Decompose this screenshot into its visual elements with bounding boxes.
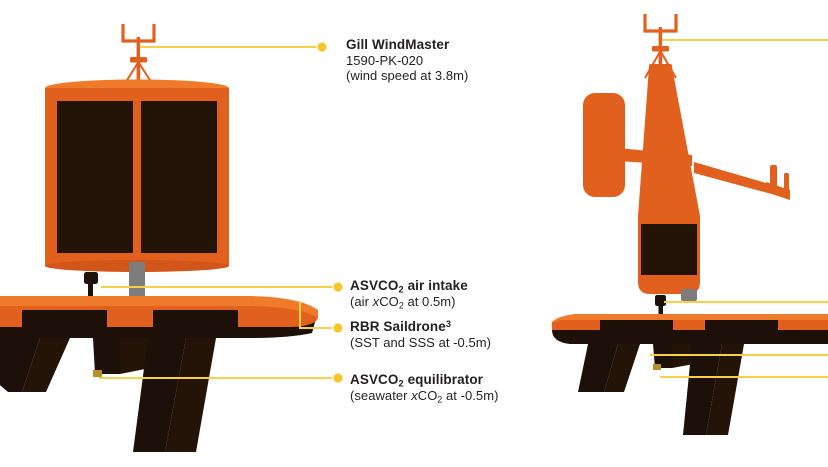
figure-canvas: Gill WindMaster 1590-PK-020 (wind speed …	[0, 0, 828, 467]
annotation-title: ASVCO2 equilibrator	[350, 372, 498, 388]
leader-dot-rbr	[333, 323, 342, 332]
annotation-asvco2-equilibrator: ASVCO2 equilibrator (seawater xCO2 at -0…	[350, 372, 498, 403]
keel-foils-front	[578, 344, 744, 435]
annotation-gill-windmaster: Gill WindMaster 1590-PK-020 (wind speed …	[346, 37, 468, 84]
keel-foils-side	[0, 338, 216, 452]
mast-post-front	[681, 289, 697, 301]
saildrone-side-view	[0, 24, 318, 452]
leader-dot-air-intake	[333, 282, 342, 291]
sail-panel-front	[638, 216, 700, 294]
hull-front	[552, 314, 828, 344]
annotation-title: RBR Saildrone3	[350, 319, 491, 335]
anemometer-icon	[120, 24, 157, 89]
leader-dots	[317, 42, 342, 382]
leader-dot-windmaster	[317, 42, 326, 51]
superscript-3: 3	[446, 319, 451, 329]
saildrone-front-view	[552, 14, 828, 435]
annotation-asvco2-air-intake: ASVCO2 air intake (air xCO2 at 0.5m)	[350, 278, 468, 309]
annotation-line2: (air xCO2 at 0.5m)	[350, 294, 468, 309]
annotation-line2: 1590-PK-020	[346, 53, 468, 68]
annotation-line2: (seawater xCO2 at -0.5m)	[350, 388, 498, 403]
leader-dot-equilibrator	[333, 373, 342, 382]
annotation-title: ASVCO2 air intake	[350, 278, 468, 294]
annotation-title: Gill WindMaster	[346, 37, 468, 53]
tail-boom	[694, 162, 790, 200]
annotation-rbr-saildrone: RBR Saildrone3 (SST and SSS at -0.5m)	[350, 319, 491, 350]
sail-wing-side	[45, 80, 229, 273]
annotation-line2: (SST and SSS at -0.5m)	[350, 335, 491, 350]
annotation-line3: (wind speed at 3.8m)	[346, 68, 468, 83]
hull-side	[0, 296, 318, 338]
